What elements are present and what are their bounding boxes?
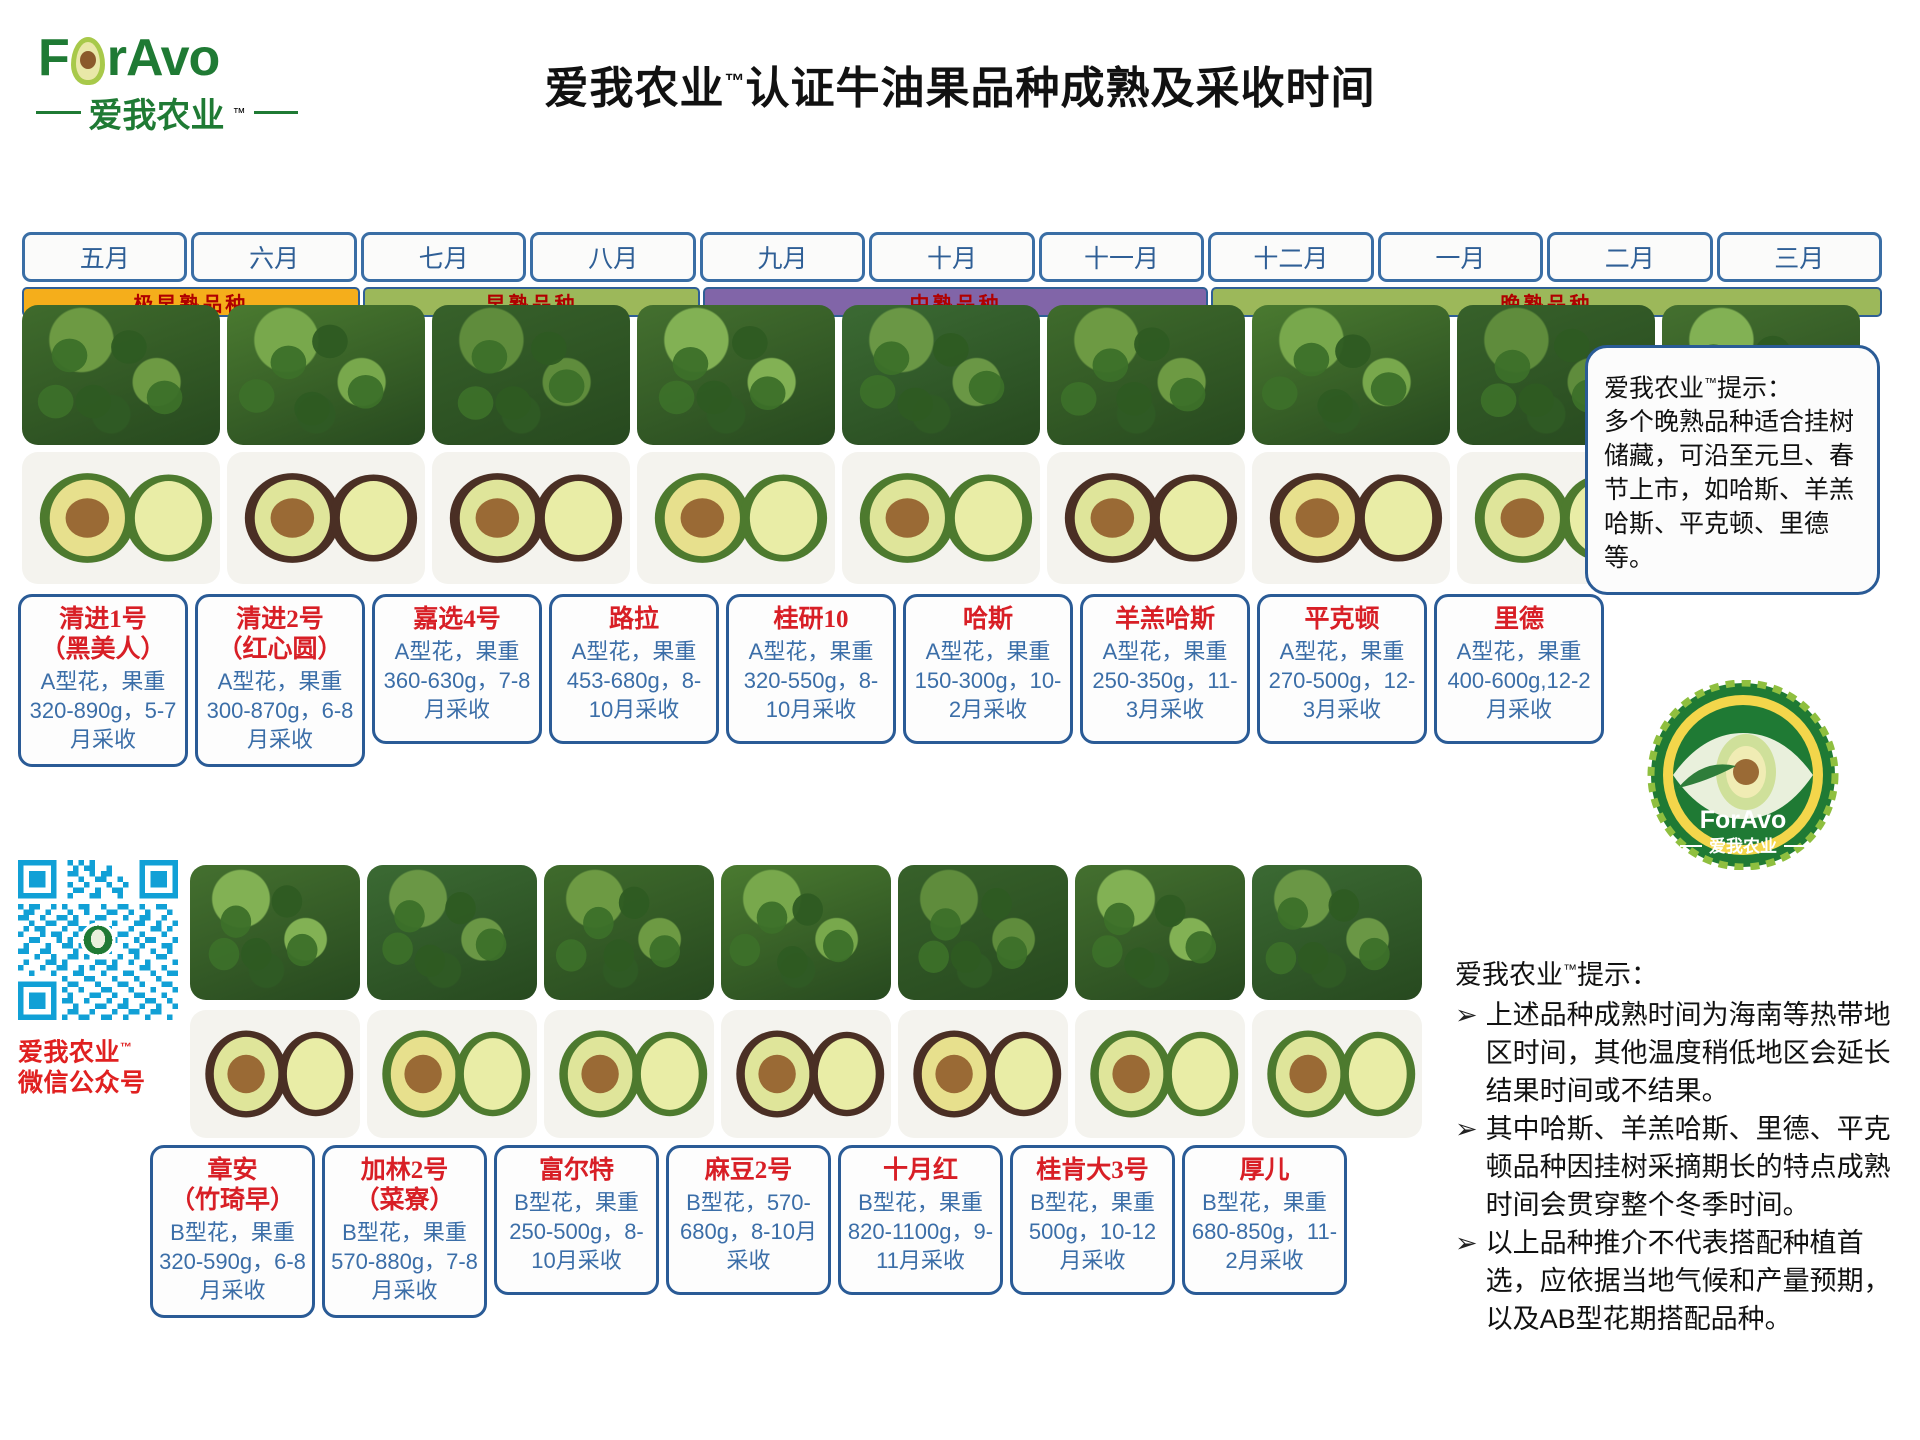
avocado-cross-section-icon [544, 1010, 714, 1138]
logo-letter-f: F [38, 29, 69, 87]
variety-name: 嘉选4号 [381, 605, 533, 635]
variety-description: B型花，果重820-1100g，9-11月采收 [847, 1188, 994, 1275]
variety-description: A型花，果重150-300g，10-2月采收 [912, 637, 1064, 724]
variety-card-路拉[interactable]: 路拉A型花，果重453-680g，8-10月采收 [549, 594, 719, 744]
month-cell-4[interactable]: 八月 [530, 232, 695, 282]
variety-description: A型花，果重250-350g，11-3月采收 [1089, 637, 1241, 724]
variety-description: A型花，果重453-680g，8-10月采收 [558, 637, 710, 724]
month-header-row: 五月六月七月八月九月十月十一月十二月一月二月三月 [22, 232, 1882, 282]
avocado-cross-section-icon [367, 1010, 537, 1138]
tip-box-late-varieties: 爱我农业™提示： 多个晚熟品种适合挂树储藏，可沿至元旦、春节上市，如哈斯、羊羔哈… [1585, 345, 1880, 595]
avocado-fruit-icon [367, 865, 537, 1000]
row2-fruit-photo-strip [190, 1010, 1422, 1138]
variety-card-厚儿[interactable]: 厚儿B型花，果重680-850g，11-2月采收 [1182, 1145, 1347, 1295]
arrow-bullet-icon: ➢ [1455, 1224, 1478, 1338]
avocado-fruit-icon [1047, 305, 1245, 445]
month-cell-1[interactable]: 五月 [22, 232, 187, 282]
variety-card-章安[interactable]: 章安（竹琦早）B型花，果重320-590g，6-8月采收 [150, 1145, 315, 1318]
avocado-cross-section-icon [227, 452, 425, 584]
month-cell-10[interactable]: 二月 [1547, 232, 1712, 282]
tree-photo-15 [1075, 865, 1245, 1000]
month-cell-2[interactable]: 六月 [191, 232, 356, 282]
avocado-cross-section-icon [190, 1010, 360, 1138]
fruit-photo-6 [1047, 452, 1245, 584]
variety-alias: （红心圆） [204, 635, 356, 665]
variety-name: 路拉 [558, 605, 710, 635]
fruit-photo-1 [22, 452, 220, 584]
avocado-icon [69, 37, 107, 85]
avocado-fruit-icon [1252, 865, 1422, 1000]
fruit-photo-15 [1075, 1010, 1245, 1138]
avocado-cross-section-icon [1075, 1010, 1245, 1138]
variety-name: 富尔特 [503, 1156, 650, 1186]
variety-card-羊羔哈斯[interactable]: 羊羔哈斯A型花，果重250-350g，11-3月采收 [1080, 594, 1250, 744]
avocado-fruit-icon [227, 305, 425, 445]
variety-name: 章安 [159, 1156, 306, 1186]
variety-description: A型花，果重300-870g，6-8月采收 [204, 667, 356, 754]
avocado-cross-section-icon [22, 452, 220, 584]
fruit-photo-5 [842, 452, 1040, 584]
variety-name: 清进1号 [27, 605, 179, 635]
logo-chinese-text: 爱我农业 [89, 88, 225, 137]
fruit-photo-12 [544, 1010, 714, 1138]
qr-code[interactable] [18, 860, 178, 1020]
tree-photo-13 [721, 865, 891, 1000]
qr-caption-line1: 爱我农业™ [18, 1032, 183, 1068]
variety-description: B型花，果重250-500g，8-10月采收 [503, 1188, 650, 1275]
arrow-bullet-icon: ➢ [1455, 1110, 1478, 1224]
variety-alias: （菜寮） [331, 1186, 478, 1216]
variety-description: B型花，570-680g，8-10月采收 [675, 1188, 822, 1275]
page-title-rest: 认证牛油果品种成熟及采收时间 [746, 64, 1376, 113]
tree-photo-1 [22, 305, 220, 445]
fruit-photo-13 [721, 1010, 891, 1138]
avocado-fruit-icon [1252, 305, 1450, 445]
tip-box-body: 多个晚熟品种适合挂树储藏，可沿至元旦、春节上市，如哈斯、羊羔哈斯、平克顿、里德等… [1604, 405, 1861, 575]
page-title-tm: ™ [725, 70, 746, 92]
avocado-fruit-icon [544, 865, 714, 1000]
footer-notes-heading: 爱我农业™提示： [1455, 950, 1910, 994]
row2-variety-cards: 章安（竹琦早）B型花，果重320-590g，6-8月采收加林2号（菜寮）B型花，… [150, 1145, 1400, 1318]
variety-description: A型花，果重360-630g，7-8月采收 [381, 637, 533, 724]
tree-photo-2 [227, 305, 425, 445]
variety-description: A型花，果重400-600g,12-2月采收 [1443, 637, 1595, 724]
fruit-photo-3 [432, 452, 630, 584]
month-cell-7[interactable]: 十一月 [1039, 232, 1204, 282]
variety-description: A型花，果重320-890g，5-7月采收 [27, 667, 179, 754]
tree-photo-12 [544, 865, 714, 1000]
wechat-qr-block: 爱我农业™ 微信公众号 [18, 860, 183, 1099]
footer-note-item-2: ➢其中哈斯、羊羔哈斯、里德、平克顿品种因挂树采摘期长的特点成熟时间会贯穿整个冬季… [1455, 1110, 1910, 1224]
footer-note-text: 以上品种推介不代表搭配种植首选，应依据当地气候和产量预期，以及AB型花期搭配品种… [1486, 1224, 1910, 1338]
variety-name: 哈斯 [912, 605, 1064, 635]
seal-wordmark: ForAvo [1700, 806, 1787, 834]
variety-name: 平克顿 [1266, 605, 1418, 635]
avocado-cross-section-icon [637, 452, 835, 584]
fruit-photo-14 [898, 1010, 1068, 1138]
month-cell-5[interactable]: 九月 [700, 232, 865, 282]
avocado-cross-section-icon [1047, 452, 1245, 584]
avocado-fruit-icon [190, 865, 360, 1000]
variety-name: 桂肯大3号 [1019, 1156, 1166, 1186]
avocado-fruit-icon [721, 865, 891, 1000]
variety-description: B型花，果重570-880g，7-8月采收 [331, 1218, 478, 1305]
avocado-cross-section-icon [898, 1010, 1068, 1138]
brand-logo: FrAvo 爱我农业™ [28, 30, 298, 140]
tree-photo-3 [432, 305, 630, 445]
foravo-seal-badge: ForAvo 爱我农业 [1628, 680, 1858, 870]
variety-name: 羊羔哈斯 [1089, 605, 1241, 635]
variety-card-平克顿[interactable]: 平克顿A型花，果重270-500g，12-3月采收 [1257, 594, 1427, 744]
variety-alias: （竹琦早） [159, 1186, 306, 1216]
avocado-cross-section-icon [432, 452, 630, 584]
logo-wordmark: FrAvo [28, 30, 298, 86]
avocado-fruit-icon [1075, 865, 1245, 1000]
variety-card-清进2号[interactable]: 清进2号（红心圆）A型花，果重300-870g，6-8月采收 [195, 594, 365, 767]
footer-note-item-1: ➢上述品种成熟时间为海南等热带地区时间，其他温度稍低地区会延长结果时间或不结果。 [1455, 996, 1910, 1110]
qr-caption: 爱我农业™ 微信公众号 [18, 1032, 183, 1099]
avocado-cross-section-icon [1252, 452, 1450, 584]
arrow-bullet-icon: ➢ [1455, 996, 1478, 1110]
variety-name: 麻豆2号 [675, 1156, 822, 1186]
tree-photo-16 [1252, 865, 1422, 1000]
month-cell-8[interactable]: 十二月 [1208, 232, 1373, 282]
footer-notes: 爱我农业™提示： ➢上述品种成熟时间为海南等热带地区时间，其他温度稍低地区会延长… [1455, 950, 1910, 1338]
fruit-photo-4 [637, 452, 835, 584]
tree-photo-5 [842, 305, 1040, 445]
tree-photo-6 [1047, 305, 1245, 445]
row1-variety-cards: 清进1号（黑美人）A型花，果重320-890g，5-7月采收清进2号（红心圆）A… [18, 594, 1618, 767]
variety-card-十月红[interactable]: 十月红B型花，果重820-1100g，9-11月采收 [838, 1145, 1003, 1295]
variety-card-加林2号[interactable]: 加林2号（菜寮）B型花，果重570-880g，7-8月采收 [322, 1145, 487, 1318]
seal-chinese: 爱我农业 [1709, 836, 1777, 856]
month-cell-3[interactable]: 七月 [361, 232, 526, 282]
page-title: 爱我农业™认证牛油果品种成熟及采收时间 [400, 52, 1520, 116]
fruit-photo-16 [1252, 1010, 1422, 1138]
tree-photo-11 [367, 865, 537, 1000]
qr-code-svg [18, 860, 178, 1020]
fruit-photo-11 [367, 1010, 537, 1138]
qr-caption-line2: 微信公众号 [18, 1068, 183, 1099]
variety-description: B型花，果重320-590g，6-8月采收 [159, 1218, 306, 1305]
avocado-fruit-icon [842, 305, 1040, 445]
month-cell-11[interactable]: 三月 [1717, 232, 1882, 282]
avocado-fruit-icon [432, 305, 630, 445]
tip-box-heading: 爱我农业™提示： [1604, 366, 1861, 405]
seal-svg: ForAvo 爱我农业 [1628, 680, 1858, 870]
footer-note-text: 上述品种成熟时间为海南等热带地区时间，其他温度稍低地区会延长结果时间或不结果。 [1486, 996, 1910, 1110]
variety-name: 厚儿 [1191, 1156, 1338, 1186]
row2-tree-photo-strip [190, 865, 1422, 1000]
tree-photo-14 [898, 865, 1068, 1000]
variety-card-里德[interactable]: 里德A型花，果重400-600g,12-2月采收 [1434, 594, 1604, 744]
month-cell-9[interactable]: 一月 [1378, 232, 1543, 282]
variety-card-桂研10[interactable]: 桂研10A型花，果重320-550g，8-10月采收 [726, 594, 896, 744]
page-title-brand: 爱我农业 [545, 64, 725, 113]
variety-name: 桂研10 [735, 605, 887, 635]
tree-photo-4 [637, 305, 835, 445]
logo-tm: ™ [233, 105, 246, 120]
fruit-photo-2 [227, 452, 425, 584]
variety-description: B型花，果重680-850g，11-2月采收 [1191, 1188, 1338, 1275]
fruit-photo-7 [1252, 452, 1450, 584]
variety-alias: （黑美人） [27, 635, 179, 665]
logo-rule-left [36, 111, 81, 114]
avocado-cross-section-icon [1252, 1010, 1422, 1138]
avocado-cross-section-icon [721, 1010, 891, 1138]
logo-rule-right [254, 111, 299, 114]
variety-name: 十月红 [847, 1156, 994, 1186]
variety-description: A型花，果重270-500g，12-3月采收 [1266, 637, 1418, 724]
fruit-photo-10 [190, 1010, 360, 1138]
avocado-fruit-icon [22, 305, 220, 445]
avocado-cross-section-icon [842, 452, 1040, 584]
variety-card-清进1号[interactable]: 清进1号（黑美人）A型花，果重320-890g，5-7月采收 [18, 594, 188, 767]
variety-card-富尔特[interactable]: 富尔特B型花，果重250-500g，8-10月采收 [494, 1145, 659, 1295]
variety-card-桂肯大3号[interactable]: 桂肯大3号B型花，果重500g，10-12月采收 [1010, 1145, 1175, 1295]
variety-description: A型花，果重320-550g，8-10月采收 [735, 637, 887, 724]
avocado-fruit-icon [898, 865, 1068, 1000]
footer-note-text: 其中哈斯、羊羔哈斯、里德、平克顿品种因挂树采摘期长的特点成熟时间会贯穿整个冬季时… [1486, 1110, 1910, 1224]
tree-photo-10 [190, 865, 360, 1000]
variety-card-哈斯[interactable]: 哈斯A型花，果重150-300g，10-2月采收 [903, 594, 1073, 744]
tree-photo-7 [1252, 305, 1450, 445]
variety-description: B型花，果重500g，10-12月采收 [1019, 1188, 1166, 1275]
logo-letters-ravo: rAvo [107, 29, 220, 87]
variety-card-嘉选4号[interactable]: 嘉选4号A型花，果重360-630g，7-8月采收 [372, 594, 542, 744]
logo-chinese-lockup: 爱我农业™ [28, 88, 298, 137]
variety-name: 里德 [1443, 605, 1595, 635]
avocado-fruit-icon [637, 305, 835, 445]
variety-name: 清进2号 [204, 605, 356, 635]
footer-note-item-3: ➢以上品种推介不代表搭配种植首选，应依据当地气候和产量预期，以及AB型花期搭配品… [1455, 1224, 1910, 1338]
footer-notes-list: ➢上述品种成熟时间为海南等热带地区时间，其他温度稍低地区会延长结果时间或不结果。… [1455, 996, 1910, 1338]
month-cell-6[interactable]: 十月 [869, 232, 1034, 282]
variety-card-麻豆2号[interactable]: 麻豆2号B型花，570-680g，8-10月采收 [666, 1145, 831, 1295]
variety-name: 加林2号 [331, 1156, 478, 1186]
